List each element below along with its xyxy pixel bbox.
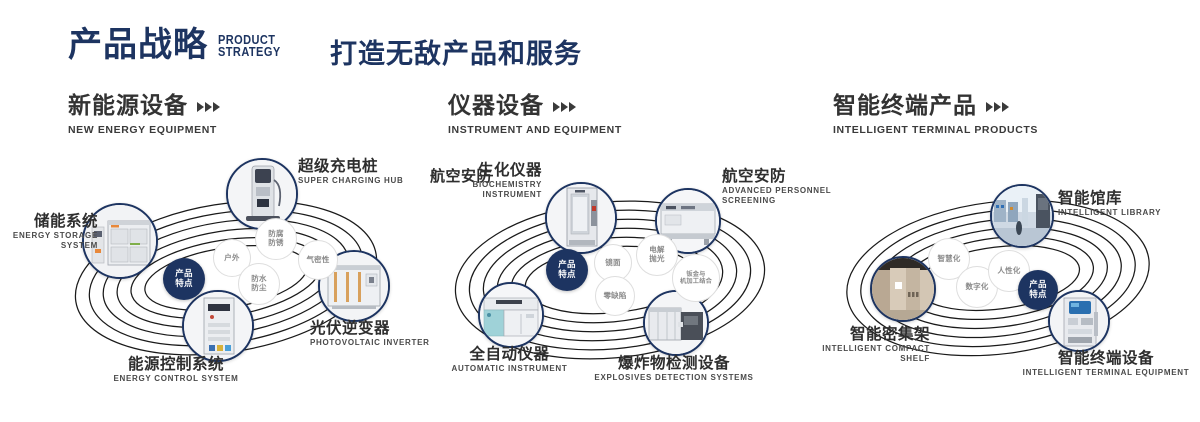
core-line1: 产品 — [1029, 280, 1046, 290]
feature-line: 镜面 — [605, 259, 620, 268]
automatic-instrument-photo — [480, 284, 542, 346]
feature-bubble-anticorrosion: 防腐 防锈 — [255, 218, 297, 260]
caption-cn: 能源控制系统 — [86, 356, 266, 373]
charging-pile-photo — [228, 160, 296, 228]
caption-en: INTELLIGENT LIBRARY — [1058, 208, 1190, 218]
section-title-cn: 智能终端产品 — [833, 95, 977, 118]
page-title-cn: 产品战略 — [68, 28, 208, 62]
caption-intelligent-compact-shelf: 智能密集架 INTELLIGENT COMPACT SHELF — [790, 326, 930, 364]
library-interior-photo — [992, 186, 1052, 246]
feature-line: 户外 — [224, 254, 239, 263]
section-title-en: INTELLIGENT TERMINAL PRODUCTS — [833, 124, 1038, 136]
chevron-right-icon — [986, 102, 1009, 112]
node-energy-control-system[interactable] — [182, 290, 254, 362]
core-line2: 特点 — [175, 279, 192, 289]
page-title-en-line2: STRATEGY — [218, 46, 281, 59]
feature-core-product-traits: 产品 特点 — [546, 249, 588, 291]
caption-en: INTELLIGENT COMPACT SHELF — [790, 344, 930, 364]
caption-automatic-instrument: 全自动仪器 AUTOMATIC INSTRUMENT — [432, 346, 587, 374]
feature-line: 数字化 — [965, 283, 988, 292]
caption-energy-control-system: 能源控制系统 ENERGY CONTROL SYSTEM — [86, 356, 266, 384]
page-title: 产品战略 PRODUCT STRATEGY — [68, 28, 289, 62]
caption-en: BIOCHEMISTRY INSTRUMENT — [420, 180, 542, 200]
node-automatic-instrument[interactable] — [478, 282, 544, 348]
feature-line: 抛光 — [649, 255, 664, 264]
caption-en: INTELLIGENT TERMINAL EQUIPMENT — [1012, 368, 1200, 378]
feature-line: 人性化 — [997, 267, 1020, 276]
section-title-cn: 新能源设备 — [68, 95, 188, 118]
page-title-en-line1: PRODUCT — [218, 34, 281, 47]
core-line1: 产品 — [175, 269, 192, 279]
core-line1: 产品 — [558, 260, 575, 270]
feature-line: 气密性 — [306, 256, 329, 265]
caption-en: ENERGY CONTROL SYSTEM — [86, 374, 266, 384]
section-heading-instrument: 仪器设备 INSTRUMENT AND EQUIPMENT — [448, 95, 622, 136]
section-heading-intelligent-terminal: 智能终端产品 INTELLIGENT TERMINAL PRODUCTS — [833, 95, 1038, 136]
feature-line: 防尘 — [251, 284, 266, 293]
feature-core-product-traits: 产品 特点 — [1018, 270, 1058, 310]
feature-line: 机加工结合 — [680, 278, 712, 285]
caption-cn: 全自动仪器 — [432, 346, 587, 363]
diagram-cluster-intelligent-terminal: 智能馆库 INTELLIGENT LIBRARY 智能密集架 INTELLIGE… — [800, 150, 1200, 400]
caption-cn: 智能密集架 — [790, 326, 930, 343]
caption-biochemistry-instrument: 生化仪器 BIOCHEMISTRY INSTRUMENT — [420, 162, 542, 200]
caption-intelligent-terminal-equipment: 智能终端设备 INTELLIGENT TERMINAL EQUIPMENT — [1012, 350, 1200, 378]
section-title-en: NEW ENERGY EQUIPMENT — [68, 124, 220, 136]
chevron-right-icon — [553, 102, 576, 112]
caption-cn: 储能系统 — [8, 213, 98, 230]
control-cabinet-photo — [184, 292, 252, 360]
feature-bubble-waterproof-dustproof: 防水 防尘 — [238, 263, 280, 305]
caption-explosives-detection-systems: 爆炸物检测设备 EXPLOSIVES DETECTION SYSTEMS — [594, 355, 754, 383]
feature-bubble-airtightness: 气密性 — [298, 240, 338, 280]
caption-intelligent-library: 智能馆库 INTELLIGENT LIBRARY — [1058, 190, 1190, 218]
node-biochemistry-instrument[interactable] — [545, 182, 617, 254]
feature-line: 智慧化 — [937, 255, 960, 264]
compact-shelf-photo — [872, 258, 934, 320]
caption-energy-storage-system: 储能系统 ENERGY STORAGE SYSTEM — [8, 213, 98, 251]
core-line2: 特点 — [558, 270, 575, 280]
feature-line: 钣金与 — [680, 271, 712, 278]
diagram-cluster-instrument: 航空安防 生化仪器 BIOCHEMISTRY INSTRUMENT — [410, 150, 810, 400]
feature-bubble-electrolytic-polishing: 电解 抛光 — [636, 234, 678, 276]
biochem-analyzer-photo — [547, 184, 615, 252]
caption-cn: 智能馆库 — [1058, 190, 1190, 207]
caption-cn: 生化仪器 — [420, 162, 542, 179]
node-super-charging-hub[interactable] — [226, 158, 298, 230]
node-intelligent-library[interactable] — [990, 184, 1054, 248]
page-tagline: 打造无敌产品和服务 — [330, 32, 582, 71]
poster-canvas: 产品战略 PRODUCT STRATEGY 打造无敌产品和服务 新能源设备 NE… — [0, 0, 1200, 422]
caption-en: AUTOMATIC INSTRUMENT — [432, 364, 587, 374]
node-intelligent-compact-shelf[interactable] — [870, 256, 936, 322]
caption-cn: 爆炸物检测设备 — [594, 355, 754, 372]
feature-core-product-traits: 产品 特点 — [163, 258, 205, 300]
self-service-kiosk-photo — [1050, 292, 1108, 350]
core-line2: 特点 — [1029, 290, 1046, 300]
node-intelligent-terminal-equipment[interactable] — [1048, 290, 1110, 352]
feature-line: 防锈 — [268, 239, 283, 248]
section-title-cn: 仪器设备 — [448, 95, 544, 118]
feature-bubble-zero-defect: 零缺陷 — [595, 276, 635, 316]
feature-bubble-sheetmetal-machining: 钣金与 机加工结合 — [672, 254, 720, 302]
caption-en: EXPLOSIVES DETECTION SYSTEMS — [594, 373, 754, 383]
caption-en: ENERGY STORAGE SYSTEM — [8, 231, 98, 251]
page-title-en: PRODUCT STRATEGY — [218, 34, 281, 63]
chevron-right-icon — [197, 102, 220, 112]
section-heading-new-energy: 新能源设备 NEW ENERGY EQUIPMENT — [68, 95, 220, 136]
feature-line: 零缺陷 — [603, 292, 626, 301]
diagram-cluster-new-energy: 储能系统 ENERGY STORAGE SYSTEM 超级充电桩 SUPER C… — [30, 150, 430, 400]
section-title-en: INSTRUMENT AND EQUIPMENT — [448, 124, 622, 136]
caption-cn: 智能终端设备 — [1012, 350, 1200, 367]
